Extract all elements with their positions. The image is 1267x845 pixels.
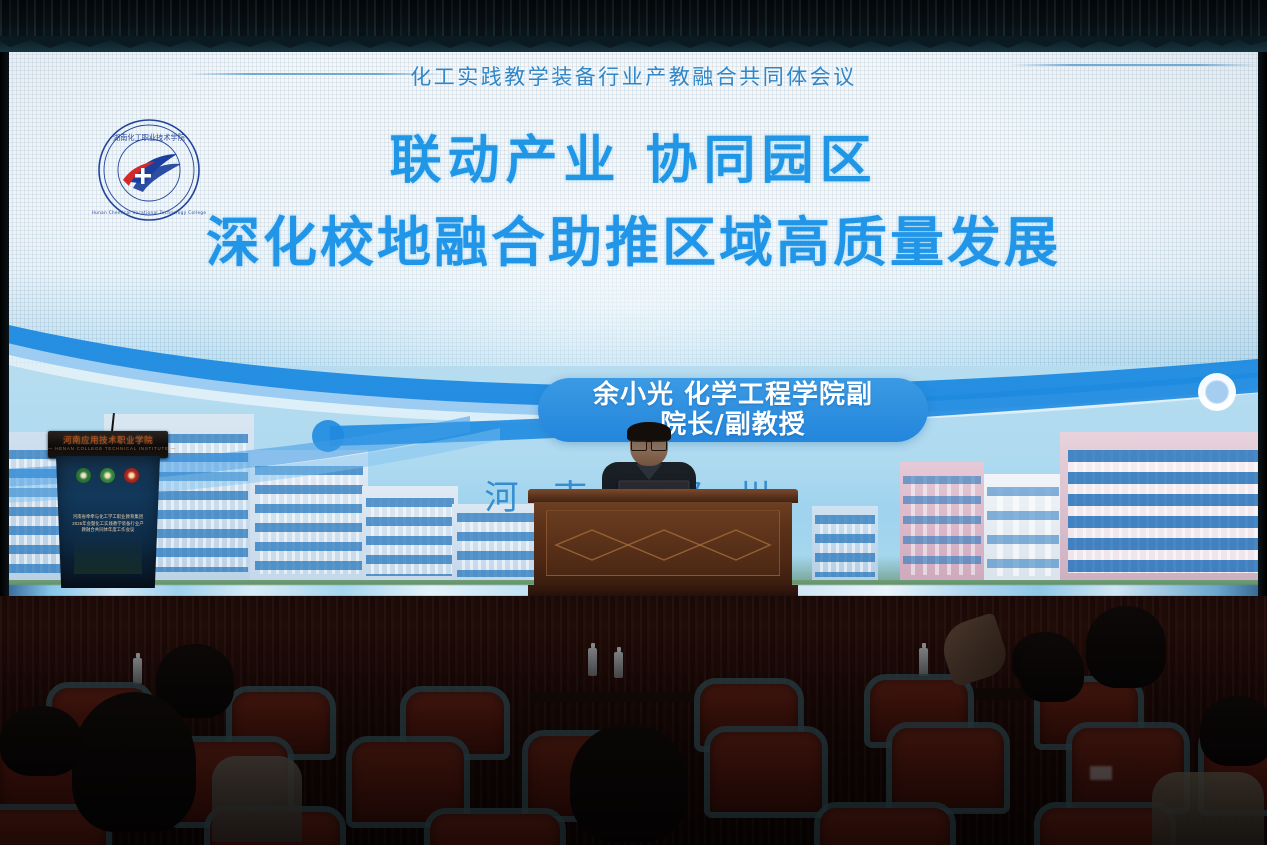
conference-kicker: 化工实践教学装备行业产教融合共同体会议 — [0, 61, 1267, 91]
logo-text-cn: 湖南化工职业技术学院 — [113, 133, 185, 142]
conference-stage-photo: 化工实践教学装备行业产教融合共同体会议 联动产业 协同园区 深化校地融合助推区域… — [0, 0, 1267, 845]
emblem-icon — [76, 468, 91, 483]
podium-school-name-cn: 河南应用技术职业学院 — [48, 434, 168, 446]
ceiling-ragged-edge — [0, 30, 1267, 56]
logo-text-en: Hunan Chemical Vocational Technology Col… — [92, 210, 207, 215]
stage-pillar-right — [1258, 18, 1267, 596]
podium-panel: 河南省牵牵与化工学工职业教育集团 2025年会暨化工实践教学装备行业产 教融合共… — [56, 456, 160, 588]
lectern-top-rail — [528, 489, 798, 503]
podium-school-name-en: — HENAN COLLEGE TECHNICAL INSTITUTE — — [48, 446, 168, 451]
badge-line-1: 余小光 化学工程学院副 — [593, 380, 873, 410]
lectern-diamond-motif — [554, 528, 772, 562]
house-shadow-overlay — [0, 596, 1267, 845]
podium-conference-text: 河南省牵牵与化工学工职业教育集团 2025年会暨化工实践教学装备行业产 教融合共… — [66, 514, 150, 534]
glasses-icon — [651, 440, 667, 451]
podium-lectern-sign: 河南应用技术职业学院 — HENAN COLLEGE TECHNICAL INS… — [44, 427, 172, 594]
podium-skyline-graphic — [74, 536, 142, 574]
emblem-icon — [100, 468, 115, 483]
emblem-icon — [124, 468, 139, 483]
podium-line-3: 教融合共同体年度工作会议 — [66, 527, 150, 534]
podium-line-1: 河南省牵牵与化工学工职业教育集团 — [66, 514, 150, 521]
college-seal-icon: 湖南化工职业技术学院 Hunan Chemical Vocational Tec… — [73, 118, 225, 222]
speaker-hair — [627, 422, 671, 442]
lectern-front-panel — [534, 502, 792, 586]
podium-header-plate: 河南应用技术职业学院 — HENAN COLLEGE TECHNICAL INS… — [48, 431, 168, 458]
glasses-icon — [631, 440, 647, 451]
auditorium-seating — [0, 596, 1267, 845]
stage-pillar-left — [0, 18, 9, 596]
wooden-lectern — [528, 489, 798, 597]
